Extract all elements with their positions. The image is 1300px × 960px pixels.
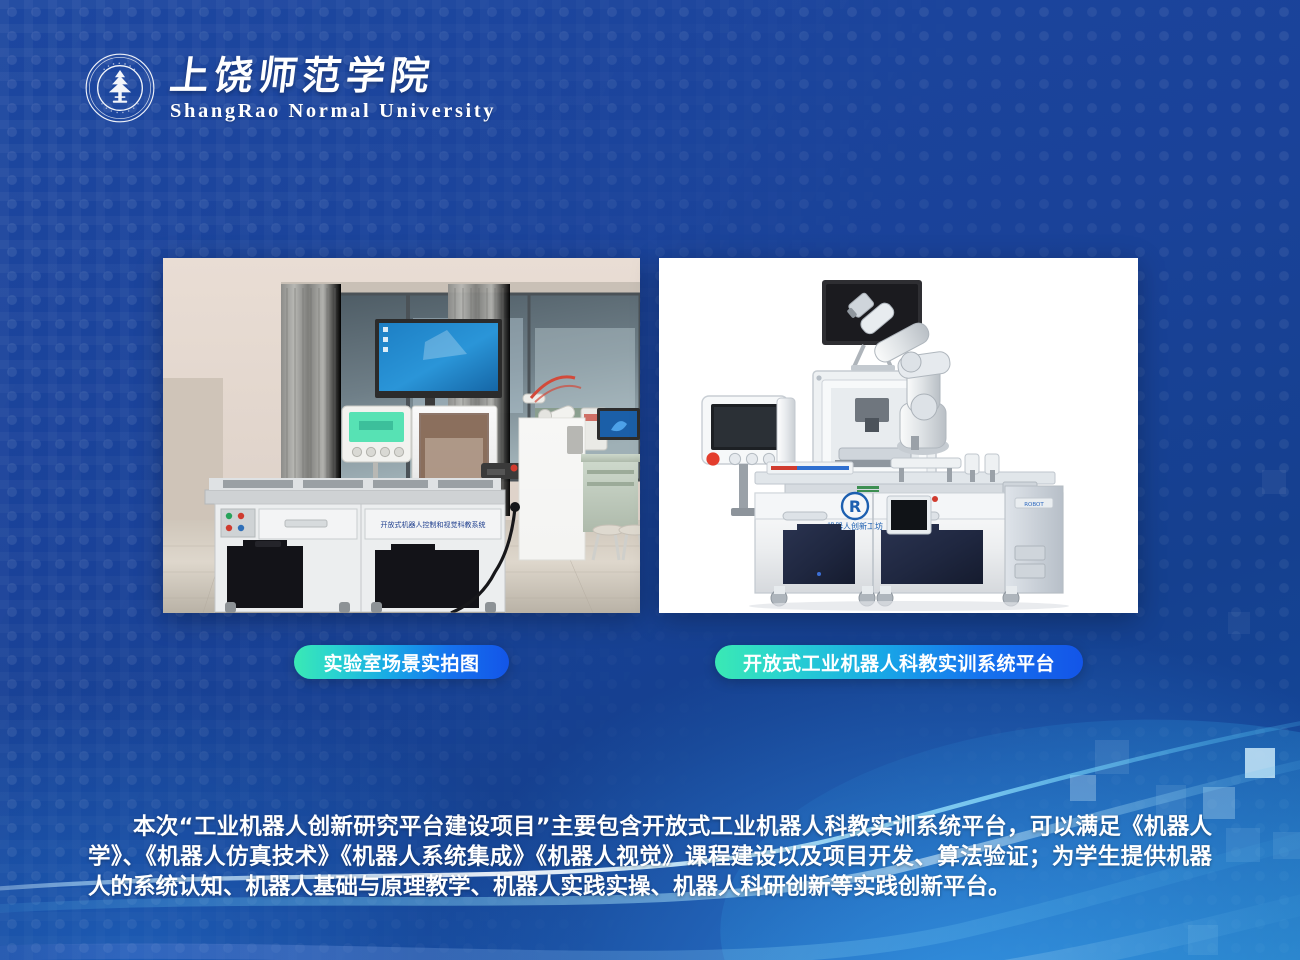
decor-square (1156, 785, 1186, 815)
university-logo: 上饶师范学院 ShangRao Normal University (84, 52, 496, 124)
decor-square (1273, 832, 1300, 859)
decor-square (1228, 612, 1250, 634)
machine-label-text: 开放式机器人控制和视觉科教系统 (381, 520, 486, 529)
university-seal-icon (84, 52, 156, 124)
caption-pill-platform[interactable]: 开放式工业机器人科教实训系统平台 (715, 645, 1083, 679)
decor-square (1070, 775, 1096, 801)
lab-photo[interactable]: 开放式机器人控制和视觉科教系统 (163, 258, 640, 613)
description-paragraph: 本次“工业机器人创新研究平台建设项目”主要包含开放式工业机器人科教实训系统平台，… (88, 812, 1212, 902)
slide-canvas: 上饶师范学院 ShangRao Normal University (0, 0, 1300, 960)
decor-square (1188, 925, 1218, 955)
logo-wordmark-cn: 上饶师范学院 (170, 54, 496, 98)
caption-pill-lab-photo[interactable]: 实验室场景实拍图 (294, 645, 509, 679)
decor-square (1226, 828, 1260, 862)
decor-square (1245, 748, 1275, 778)
platform-render-photo[interactable]: R 机器人创新工坊 ROBOT (659, 258, 1138, 613)
logo-wordmark-en: ShangRao Normal University (170, 100, 496, 123)
decor-square (1262, 470, 1286, 494)
brand-mark-letter: R (849, 497, 861, 516)
decor-square (1095, 740, 1129, 774)
description-text-block: 本次“工业机器人创新研究平台建设项目”主要包含开放式工业机器人科教实训系统平台，… (88, 812, 1212, 902)
svg-text:ROBOT: ROBOT (1024, 502, 1044, 508)
platform-render-image: R 机器人创新工坊 ROBOT (659, 258, 1138, 613)
lab-photo-image: 开放式机器人控制和视觉科教系统 (163, 258, 640, 613)
